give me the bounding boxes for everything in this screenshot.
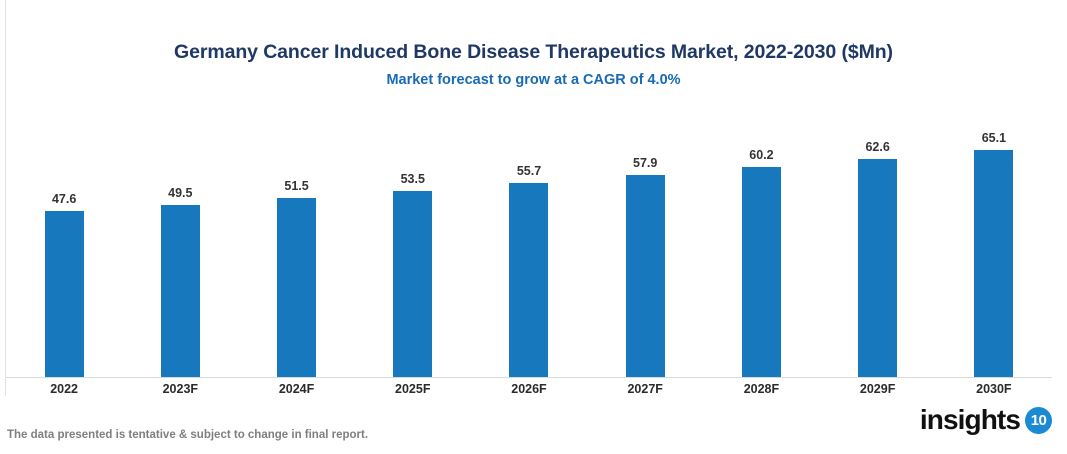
bar-2030F[interactable] xyxy=(974,150,1013,378)
x-label-2029F: 2029F xyxy=(820,381,936,397)
x-label-2022: 2022 xyxy=(6,381,122,397)
bar-slot[interactable]: 51.5 xyxy=(238,100,354,378)
chart-card: Germany Cancer Induced Bone Disease Ther… xyxy=(0,0,1067,454)
bar-2023F[interactable] xyxy=(161,205,200,378)
bar-slot[interactable]: 47.6 xyxy=(6,100,122,378)
bar-value-label: 62.6 xyxy=(865,140,889,154)
bar-slot[interactable]: 49.5 xyxy=(122,100,238,378)
plot-area: 47.649.551.553.555.757.960.262.665.1 xyxy=(6,100,1052,378)
bar-2028F[interactable] xyxy=(742,167,781,378)
bar-slot[interactable]: 60.2 xyxy=(703,100,819,378)
x-axis-tick-labels: 20222023F2024F2025F2026F2027F2028F2029F2… xyxy=(6,381,1052,397)
chart-subtitle: Market forecast to grow at a CAGR of 4.0… xyxy=(0,71,1067,89)
chart-title: Germany Cancer Induced Bone Disease Ther… xyxy=(0,40,1067,64)
bar-2029F[interactable] xyxy=(858,159,897,378)
bar-value-label: 65.1 xyxy=(982,131,1006,145)
x-label-2028F: 2028F xyxy=(703,381,819,397)
x-axis-line xyxy=(6,377,1052,378)
title-block: Germany Cancer Induced Bone Disease Ther… xyxy=(0,40,1067,89)
brand-wordmark: insights xyxy=(920,405,1020,435)
bar-2026F[interactable] xyxy=(509,183,548,378)
bar-series: 47.649.551.553.555.757.960.262.665.1 xyxy=(6,100,1052,378)
bar-slot[interactable]: 65.1 xyxy=(936,100,1052,378)
x-label-2023F: 2023F xyxy=(122,381,238,397)
bar-slot[interactable]: 55.7 xyxy=(471,100,587,378)
bar-value-label: 55.7 xyxy=(517,164,541,178)
bar-value-label: 57.9 xyxy=(633,156,657,170)
bar-slot[interactable]: 53.5 xyxy=(355,100,471,378)
brand-badge-icon: 10 xyxy=(1025,407,1052,434)
bar-value-label: 53.5 xyxy=(401,172,425,186)
bar-value-label: 51.5 xyxy=(284,179,308,193)
bar-value-label: 60.2 xyxy=(749,148,773,162)
x-label-2030F: 2030F xyxy=(936,381,1052,397)
x-label-2026F: 2026F xyxy=(471,381,587,397)
bar-value-label: 47.6 xyxy=(52,192,76,206)
bar-2025F[interactable] xyxy=(393,191,432,378)
disclaimer-text: The data presented is tentative & subjec… xyxy=(7,428,368,443)
bar-value-label: 49.5 xyxy=(168,186,192,200)
x-label-2027F: 2027F xyxy=(587,381,703,397)
bar-2024F[interactable] xyxy=(277,198,316,378)
insights10-logo: insights 10 xyxy=(920,405,1052,435)
x-label-2025F: 2025F xyxy=(355,381,471,397)
bar-slot[interactable]: 62.6 xyxy=(820,100,936,378)
bar-2022[interactable] xyxy=(45,211,84,378)
bar-slot[interactable]: 57.9 xyxy=(587,100,703,378)
x-label-2024F: 2024F xyxy=(238,381,354,397)
bar-2027F[interactable] xyxy=(626,175,665,378)
